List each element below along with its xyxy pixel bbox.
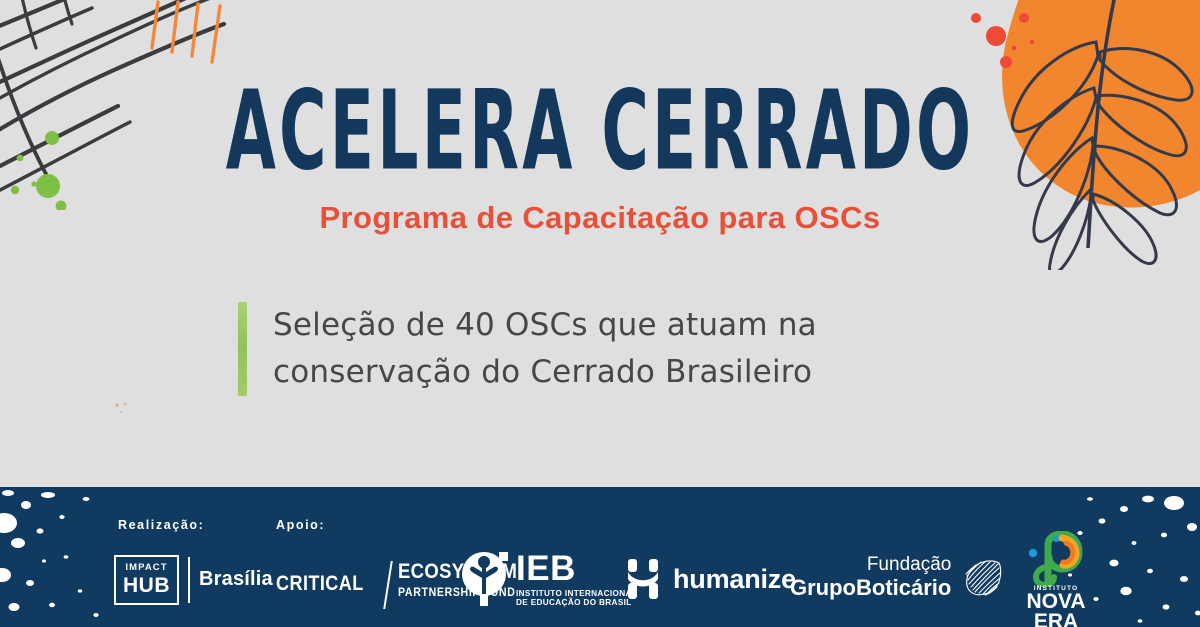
ieb-tree-emblem-icon [459, 550, 509, 608]
tagline-block: Seleção de 40 OSCs que atuam na conserva… [238, 302, 817, 396]
nova-era-nova-text: NOVA [1014, 592, 1098, 612]
page-subtitle: Programa de Capacitação para OSCs [0, 200, 1200, 236]
orange-speck-accent [112, 400, 134, 418]
logo-impact-hub-brasilia[interactable]: IMPACT HUB Brasília [114, 555, 273, 605]
nova-era-spiral-emblem-icon [1026, 531, 1086, 587]
ieb-subtitle-line-2: DE EDUCAÇÃO DO BRASIL [516, 599, 637, 607]
boticario-fundacao-text: Fundação [790, 555, 951, 576]
impact-hub-divider [188, 557, 190, 603]
humanize-h-mark-icon [626, 557, 660, 601]
logo-ieb[interactable]: IEB INSTITUTO INTERNACIONAL DE EDUCAÇÃO … [459, 550, 637, 608]
logo-fundacao-grupo-boticario[interactable]: Fundação GrupoBoticário [790, 555, 1005, 599]
logo-humanize[interactable]: humanize [626, 557, 796, 601]
impact-hub-city-text: Brasília [199, 568, 273, 591]
humanize-wordmark-text: humanize [673, 564, 796, 595]
ieb-subtitle-text: INSTITUTO INTERNACIONAL DE EDUCAÇÃO DO B… [516, 590, 637, 606]
tagline-text: Seleção de 40 OSCs que atuam na conserva… [273, 302, 817, 396]
page-title: ACELERA CERRADO [120, 78, 1080, 186]
orange-dashes-accent [150, 0, 240, 70]
promotional-banner: ACELERA CERRADO Programa de Capacitação … [0, 0, 1200, 627]
logo-instituto-nova-era[interactable]: INSTITUTO NOVA ERA [1014, 531, 1098, 627]
tagline-line-2: conservação do Cerrado Brasileiro [273, 349, 817, 396]
label-apoio: Apoio: [276, 518, 325, 532]
boticario-grupo-text: GrupoBoticário [790, 576, 951, 600]
sponsors-footer: Realização: Apoio: IMPACT HUB Brasília C… [0, 487, 1200, 627]
impact-hub-mark: IMPACT HUB [114, 555, 179, 605]
impact-hub-hub-text: HUB [123, 575, 170, 596]
impact-hub-impact-text: IMPACT [123, 563, 170, 573]
tagline-line-1: Seleção de 40 OSCs que atuam na [273, 302, 817, 349]
label-realizacao: Realização: [118, 518, 204, 532]
boticario-text-block: Fundação GrupoBoticário [790, 555, 951, 599]
ieb-acronym-text: IEB [516, 551, 637, 586]
cepf-divider [383, 561, 393, 609]
headline-block: ACELERA CERRADO Programa de Capacitação … [0, 78, 1200, 236]
green-accent-bar [238, 302, 247, 396]
ieb-text-block: IEB INSTITUTO INTERNACIONAL DE EDUCAÇÃO … [516, 551, 637, 606]
nova-era-era-text: ERA [1014, 612, 1098, 627]
boticario-shell-emblem-icon [961, 555, 1005, 599]
cepf-critical-text: CRITICAL [276, 561, 364, 596]
